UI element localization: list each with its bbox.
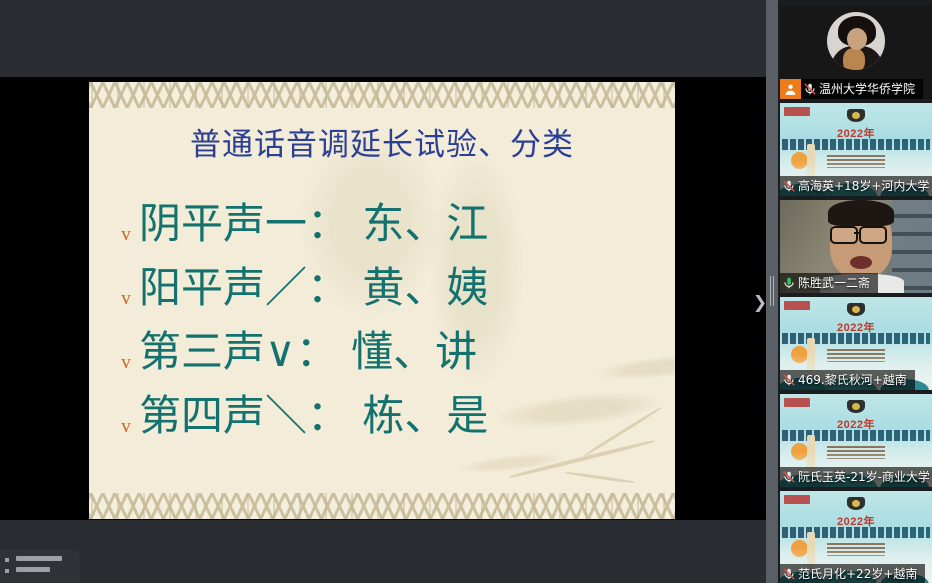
poster-logo — [784, 398, 810, 407]
speaker-hair — [828, 200, 894, 226]
bullet-marker-icon: v — [113, 288, 139, 320]
shared-slide: 普通话音调延长试验、分类 v 阴平声一： 东、江 v 阳平声／： 黄、姨 v 第… — [89, 82, 675, 519]
mic-muted-icon — [801, 79, 819, 99]
slide-bullet-3: v 第三声∨： 懂、讲 — [113, 320, 653, 384]
poster-headline — [782, 430, 930, 441]
participant-name: 阮氏玉英-21岁-商业大学 — [798, 467, 930, 487]
mic-muted-icon — [780, 564, 798, 583]
participant-name-bar: 陈胜武一二斋 — [780, 273, 878, 293]
bullet-marker-icon: v — [113, 416, 139, 448]
poster-crest-icon — [847, 497, 865, 510]
participant-tile[interactable]: 2022年 阮氏玉英-21岁-商业大学 — [780, 394, 932, 487]
participant-name: 温州大学华侨学院 — [819, 79, 915, 99]
filmstrip-drag-handle[interactable] — [766, 0, 778, 583]
slide-title: 普通话音调延长试验、分类 — [89, 130, 675, 161]
slide-bottom-border-pattern — [89, 493, 675, 519]
popup-bullet-dot — [5, 558, 9, 562]
poster-logo — [784, 301, 810, 310]
mic-on-icon — [780, 273, 798, 293]
bullet-marker-icon: v — [113, 352, 139, 384]
poster-headline — [782, 139, 930, 150]
participant-name-bar: 阮氏玉英-21岁-商业大学 — [780, 467, 932, 487]
slide-bullet-text: 阳平声／： 黄、姨 — [139, 267, 488, 309]
poster-logo — [784, 495, 810, 504]
participant-tile[interactable]: 温州大学华侨学院 — [780, 6, 932, 99]
participant-tile[interactable]: 2022年 范氏月化+22岁+越南 — [780, 491, 932, 583]
participant-name: 469.黎氏秋河+越南 — [798, 370, 907, 390]
slide-bullet-list: v 阴平声一： 东、江 v 阳平声／： 黄、姨 v 第三声∨： 懂、讲 v 第四… — [113, 192, 653, 448]
avatar — [827, 12, 885, 70]
participant-filmstrip[interactable]: 温州大学华侨学院 2022年 — [778, 0, 932, 583]
slide-bullet-text: 阴平声一： 东、江 — [139, 203, 488, 245]
speaker-mouth — [850, 256, 872, 269]
stage-bottom-bar — [0, 520, 768, 583]
slide-bullet-2: v 阳平声／： 黄、姨 — [113, 256, 653, 320]
participant-name: 陈胜武一二斋 — [798, 273, 870, 293]
glasses-right-lens — [859, 226, 887, 244]
slide-bullet-text: 第三声∨： 懂、讲 — [139, 331, 477, 373]
slide-bullet-text: 第四声＼： 栋、是 — [139, 395, 488, 437]
participant-name-bar: 469.黎氏秋河+越南 — [780, 370, 915, 390]
slide-top-border-pattern — [89, 82, 675, 108]
bottom-left-popup[interactable] — [0, 550, 80, 583]
bullet-marker-icon: v — [113, 224, 139, 256]
popup-text-placeholder — [16, 556, 62, 561]
participant-tile[interactable]: 2022年 高海英+18岁+河内大学 — [780, 103, 932, 196]
participant-name: 高海英+18岁+河内大学 — [798, 176, 929, 196]
mic-muted-icon — [780, 176, 798, 196]
host-person-icon — [780, 79, 801, 99]
participant-name-bar: 温州大学华侨学院 — [780, 79, 923, 99]
glasses-bridge — [854, 232, 859, 234]
popup-text-placeholder — [16, 567, 50, 572]
poster-crest-icon — [847, 303, 865, 316]
avatar-face — [847, 28, 867, 50]
poster-headline — [782, 333, 930, 344]
handle-bar — [770, 276, 771, 306]
avatar-pet — [843, 48, 865, 70]
poster-logo — [784, 107, 810, 116]
participant-tile-active-speaker[interactable]: 陈胜武一二斋 — [780, 200, 932, 293]
meeting-stage: 普通话音调延长试验、分类 v 阴平声一： 东、江 v 阳平声／： 黄、姨 v 第… — [0, 0, 768, 583]
participant-name-bar: 高海英+18岁+河内大学 — [780, 176, 932, 196]
participant-name: 范氏月化+22岁+越南 — [798, 564, 917, 583]
poster-crest-icon — [847, 400, 865, 413]
participant-tile[interactable]: 2022年 469.黎氏秋河+越南 — [780, 297, 932, 390]
slide-bullet-1: v 阴平声一： 东、江 — [113, 192, 653, 256]
handle-bar — [773, 276, 774, 306]
mic-muted-icon — [780, 467, 798, 487]
poster-headline — [782, 527, 930, 538]
slide-bullet-4: v 第四声＼： 栋、是 — [113, 384, 653, 448]
participant-name-bar: 范氏月化+22岁+越南 — [780, 564, 925, 583]
stage-top-bar — [0, 0, 768, 77]
mic-muted-icon — [780, 370, 798, 390]
poster-crest-icon — [847, 109, 865, 122]
branch-stroke — [565, 471, 635, 484]
glasses-left-lens — [830, 226, 858, 244]
popup-bullet-dot — [5, 569, 9, 573]
